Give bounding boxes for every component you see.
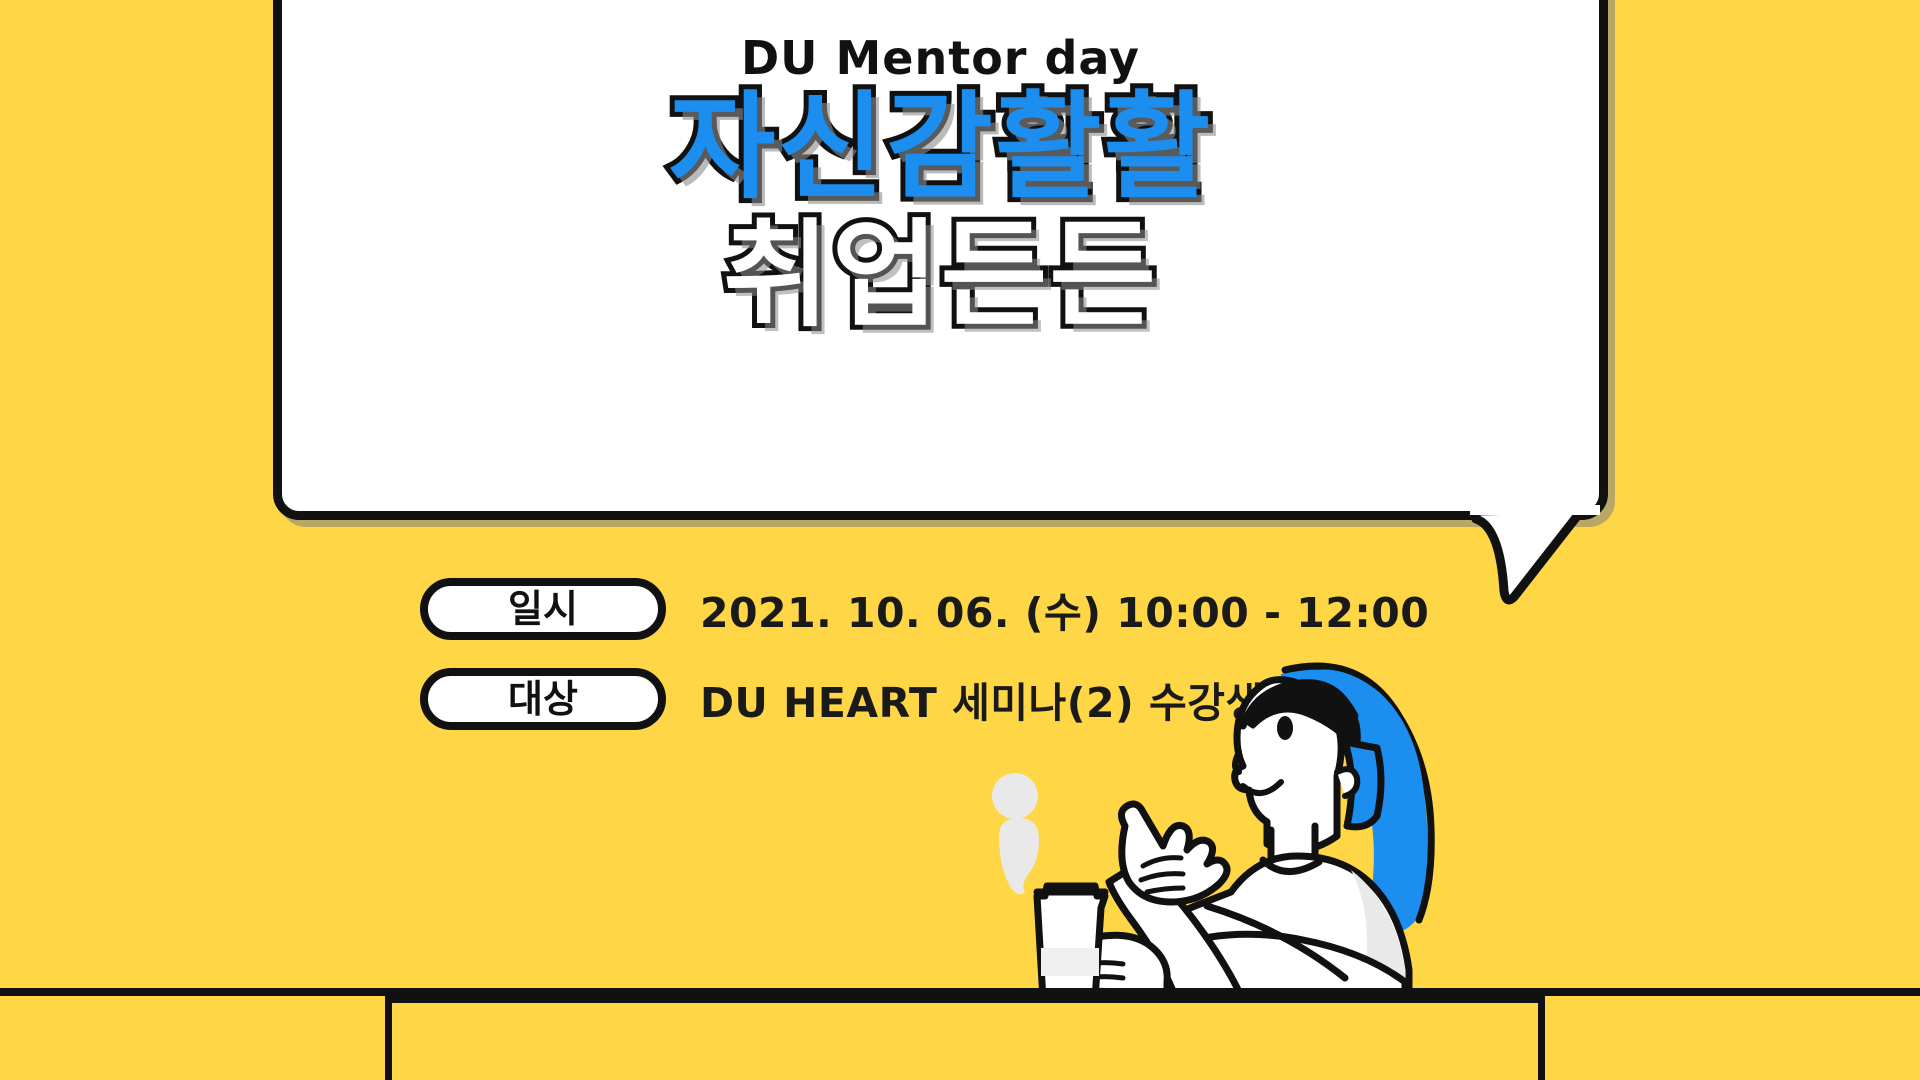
- eyebrow-title: DU Mentor day: [741, 31, 1140, 85]
- speech-bubble-content: DU Mentor day 자신감활활 취업든든: [282, 0, 1599, 511]
- info-label-pill-date: 일시: [420, 578, 666, 640]
- speech-bubble-tail: [1470, 505, 1600, 610]
- bottom-content-box: [385, 996, 1545, 1080]
- table-edge-line: [0, 988, 1920, 996]
- headline-line-1: 자신감활활: [669, 89, 1213, 207]
- headline-line-2: 취업든든: [723, 217, 1158, 335]
- info-label-date: 일시: [508, 590, 578, 628]
- info-label-pill-audience: 대상: [420, 668, 666, 730]
- speech-bubble: DU Mentor day 자신감활활 취업든든: [273, 0, 1608, 520]
- info-label-audience: 대상: [508, 680, 578, 718]
- poster-canvas: DU Mentor day 자신감활활 취업든든 일시 2021. 10. 06…: [0, 0, 1920, 1080]
- woman-with-coffee-illustration: [985, 630, 1485, 1000]
